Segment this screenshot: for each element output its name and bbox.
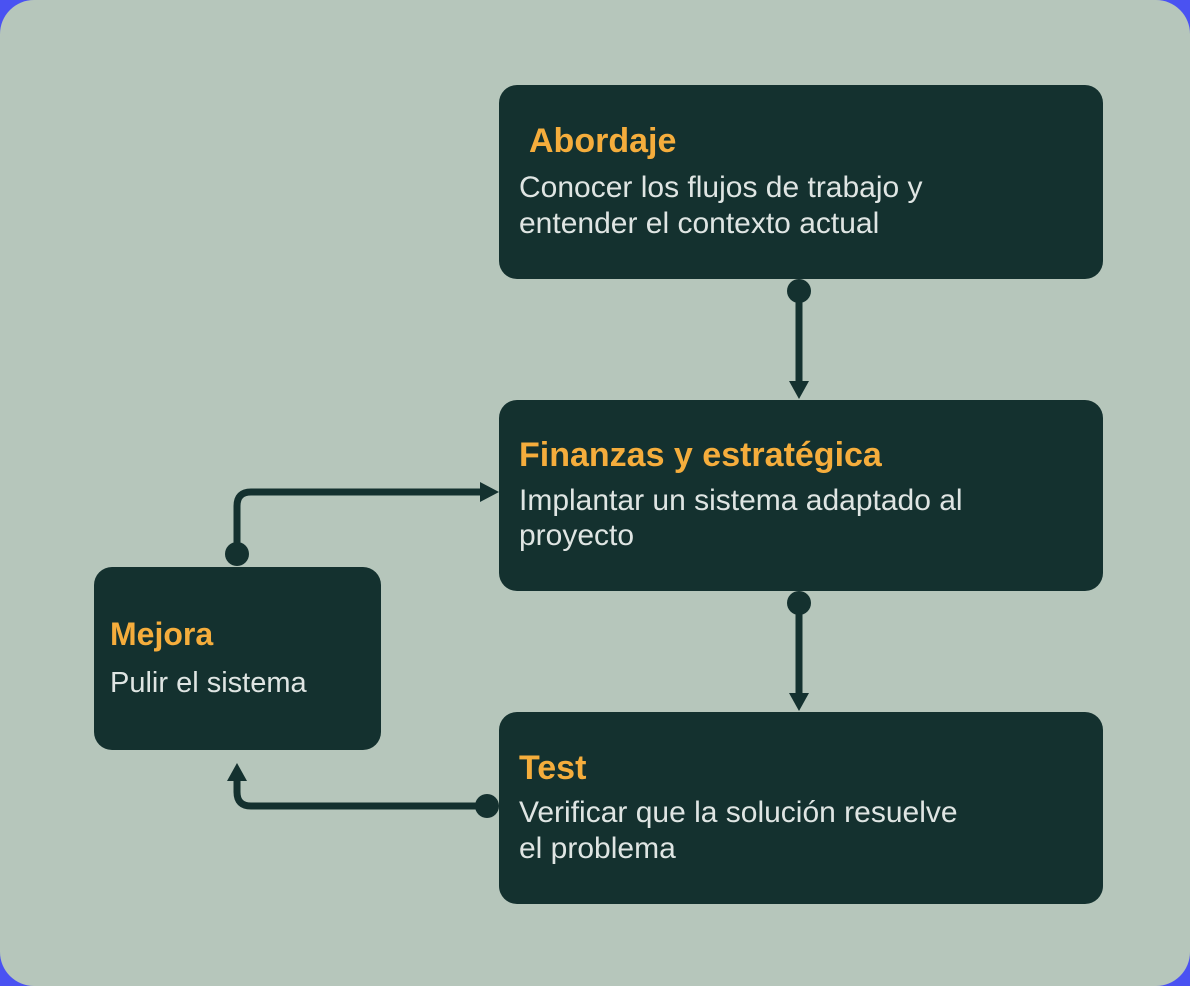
node-finanzas-description: Implantar un sistema adaptado al proyect… [519, 483, 1103, 554]
diagram-canvas: Abordaje Conocer los flujos de trabajo y… [0, 0, 1190, 992]
node-test-title: Test [519, 750, 1103, 787]
node-mejora[interactable]: Mejora Pulir el sistema [94, 567, 381, 750]
node-abordaje-description: Conocer los flujos de trabajo y entender… [519, 170, 1103, 241]
node-abordaje-title: Abordaje [529, 123, 1103, 160]
node-mejora-description: Pulir el sistema [110, 666, 381, 700]
node-mejora-title: Mejora [110, 617, 381, 652]
node-test-description: Verificar que la solución resuelve el pr… [519, 795, 1103, 866]
node-abordaje[interactable]: Abordaje Conocer los flujos de trabajo y… [499, 85, 1103, 279]
node-finanzas[interactable]: Finanzas y estratégica Implantar un sist… [499, 400, 1103, 591]
node-test[interactable]: Test Verificar que la solución resuelve … [499, 712, 1103, 904]
node-finanzas-title: Finanzas y estratégica [519, 437, 1103, 474]
